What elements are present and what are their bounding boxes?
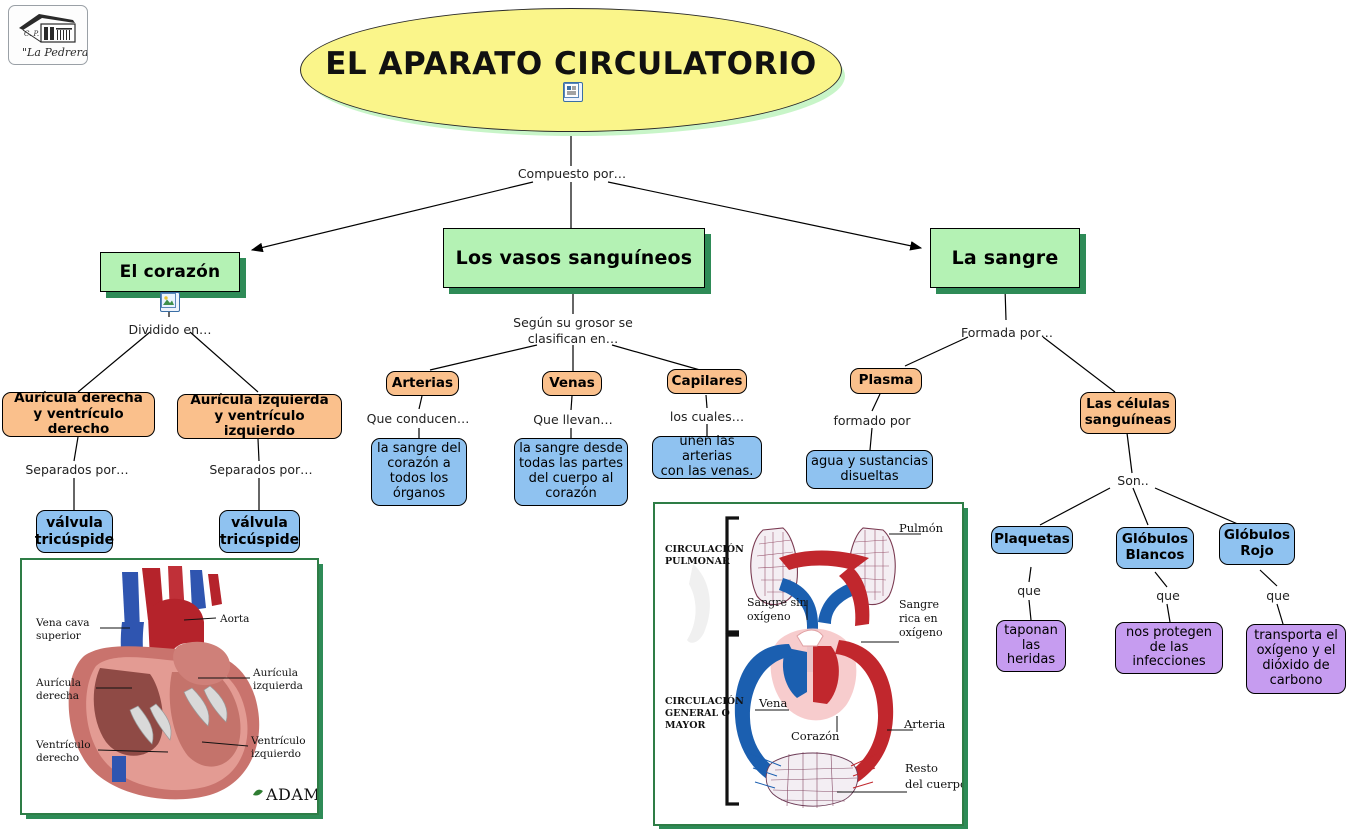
capilares-detalle-label: unen las arterias con las venas. (653, 435, 761, 480)
venas-label: Venas (549, 376, 595, 392)
node-venas-detalle[interactable]: la sangre desde todas las partes del cue… (514, 438, 628, 506)
node-valvula-tricuspide-izquierda[interactable]: válvula tricúspide (219, 510, 300, 553)
node-auricula-ventriculo-derecho[interactable]: Aurícula derecha y ventrículo derecho (2, 392, 155, 437)
node-globulos-blancos-funcion[interactable]: nos protegen de las infecciones (1115, 622, 1223, 674)
arterias-label: Arterias (392, 376, 453, 392)
plasma-detalle-label: agua y sustancias disueltas (811, 455, 928, 485)
edge-label-dividido-en: Dividido en… (120, 322, 220, 338)
svg-text:ADAM.: ADAM. (265, 785, 317, 804)
heart-anatomy-image[interactable]: Vena cavasuperior Aorta Aurículaderecha … (20, 558, 319, 815)
node-camara-derecha-label: Aurícula derecha y ventrículo derecho (3, 391, 154, 438)
edge-label-que-blancos: que (1146, 588, 1190, 604)
globulos-blancos-funcion-label: nos protegen de las infecciones (1126, 626, 1212, 671)
heart-label-auricula-izquierda: Aurículaizquierda (252, 667, 303, 692)
node-camara-izquierda-label: Aurícula izquierda y ventrículo izquierd… (178, 393, 341, 440)
globulos-rojos-label: Glóbulos Rojo (1224, 528, 1290, 559)
node-valvula-tricuspide-derecha[interactable]: válvula tricúspide (36, 510, 113, 553)
plaquetas-funcion-label: taponan las heridas (1004, 624, 1058, 669)
node-auricula-ventriculo-izquierdo[interactable]: Aurícula izquierda y ventrículo izquierd… (177, 394, 342, 439)
node-plasma-detalle[interactable]: agua y sustancias disueltas (806, 450, 933, 489)
logo-line2: "La Pedrera" (22, 46, 87, 59)
valvula-derecha-label: válvula tricúspide (35, 515, 114, 547)
node-capilares[interactable]: Capilares (667, 369, 747, 394)
heart-label-aorta: Aorta (219, 613, 249, 625)
node-el-corazon-label: El corazón (120, 262, 221, 282)
circ-label-pulmon: Pulmón (899, 521, 944, 535)
arterias-detalle-label: la sangre del corazón a todos los órgano… (377, 442, 461, 502)
node-globulos-blancos[interactable]: Glóbulos Blancos (1116, 527, 1194, 569)
node-arterias[interactable]: Arterias (386, 371, 459, 396)
node-plasma[interactable]: Plasma (850, 368, 922, 394)
edge-label-que-plaquetas: que (1007, 583, 1051, 599)
edge-label-segun-grosor: Según su grosor se clasifican en… (503, 315, 643, 346)
edge-label-los-cuales: los cuales… (667, 409, 747, 425)
logo-line1: C. P. (24, 30, 39, 38)
edge-label-formado-por: formado por (820, 413, 924, 429)
globulos-rojos-funcion-label: transporta el oxígeno y el dióxido de ca… (1254, 629, 1338, 689)
plaquetas-label: Plaquetas (994, 532, 1070, 548)
concept-map-canvas: C. P. "La Pedrera" EL APARATO CIRCULATOR… (0, 0, 1348, 829)
node-plaquetas[interactable]: Plaquetas (991, 526, 1073, 554)
circ-label-sangre-rica: Sangrerica enoxígeno (899, 598, 943, 639)
picture-icon[interactable] (160, 292, 180, 312)
node-vasos-sanguineos[interactable]: Los vasos sanguíneos (443, 228, 705, 288)
edge-label-que-llevan: Que llevan… (528, 412, 618, 428)
edge-label-separados-por-derecha: Separados por… (22, 462, 132, 478)
edge-label-compuesto-por: Compuesto por… (498, 166, 646, 182)
edge-label-que-rojos: que (1256, 588, 1300, 604)
circulation-diagram-image[interactable]: CIRCULACIÓNPULMONAR CIRCULACIÓNGENERAL O… (653, 502, 964, 826)
page-title: EL APARATO CIRCULATORIO (325, 46, 817, 82)
node-el-corazon[interactable]: El corazón (100, 252, 240, 292)
edge-label-separados-por-izquierda: Separados por… (206, 462, 316, 478)
plasma-label: Plasma (859, 373, 914, 389)
node-capilares-detalle[interactable]: unen las arterias con las venas. (652, 436, 762, 479)
node-sangre-label: La sangre (952, 247, 1059, 269)
circ-label-corazon: Corazón (791, 729, 840, 743)
node-plaquetas-funcion[interactable]: taponan las heridas (996, 620, 1066, 672)
heart-label-auricula-derecha: Aurículaderecha (35, 677, 81, 702)
globulos-blancos-label: Glóbulos Blancos (1122, 532, 1188, 563)
document-icon[interactable] (563, 82, 583, 102)
node-globulos-rojos[interactable]: Glóbulos Rojo (1219, 523, 1295, 565)
capilares-label: Capilares (672, 374, 743, 390)
edge-label-que-conducen: Que conducen… (366, 411, 470, 427)
node-venas[interactable]: Venas (542, 371, 602, 396)
edge-label-formada-por: Formada por… (955, 325, 1059, 341)
node-celulas-sanguineas[interactable]: Las células sanguíneas (1080, 392, 1176, 434)
node-arterias-detalle[interactable]: la sangre del corazón a todos los órgano… (371, 438, 467, 506)
node-globulos-rojos-funcion[interactable]: transporta el oxígeno y el dióxido de ca… (1246, 624, 1346, 694)
node-vasos-label: Los vasos sanguíneos (456, 247, 693, 269)
valvula-izquierda-label: válvula tricúspide (220, 515, 299, 547)
heart-label-ventriculo-izquierdo: Ventrículoizquierdo (250, 735, 306, 760)
celulas-sanguineas-label: Las células sanguíneas (1085, 397, 1172, 428)
school-logo: C. P. "La Pedrera" (8, 5, 88, 65)
node-la-sangre[interactable]: La sangre (930, 228, 1080, 288)
circ-label-arteria: Arteria (903, 717, 945, 731)
title-node[interactable]: EL APARATO CIRCULATORIO (300, 8, 842, 132)
edge-label-son: Son.. (1104, 473, 1162, 489)
circ-label-vena: Vena (758, 696, 787, 710)
venas-detalle-label: la sangre desde todas las partes del cue… (519, 442, 623, 502)
